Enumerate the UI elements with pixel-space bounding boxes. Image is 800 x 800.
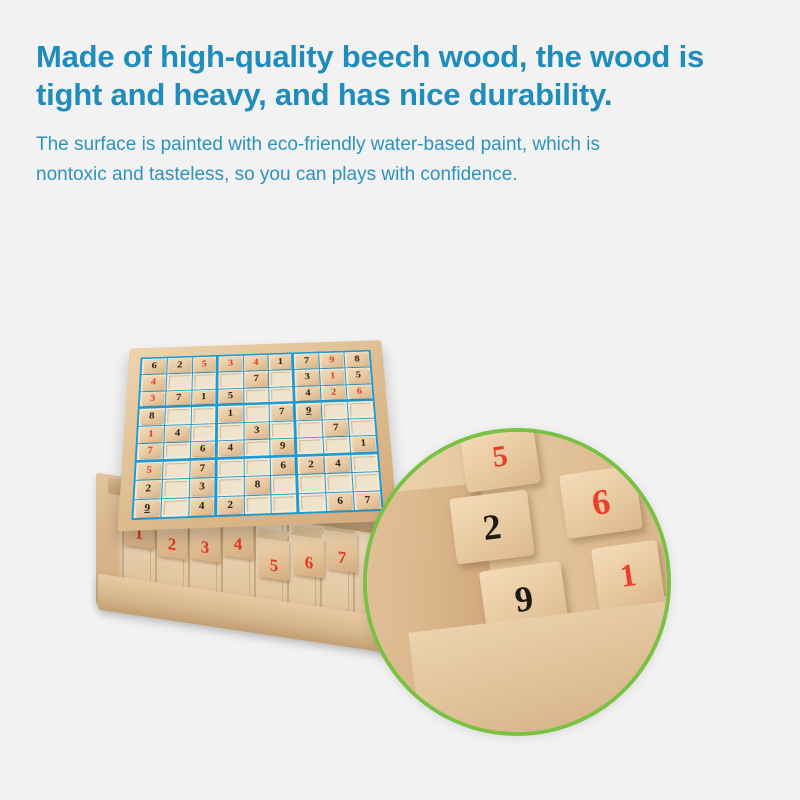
sudoku-cell[interactable] [271,475,298,494]
sudoku-cell[interactable]: 7 [270,404,296,421]
sudoku-cell[interactable]: 3 [218,356,243,372]
sudoku-cell[interactable]: 2 [321,385,347,402]
closeup-tile-label: 6 [589,480,613,524]
sudoku-board[interactable]: 6253417984731537154268179143776491576242… [118,340,398,531]
sudoku-cell[interactable]: 4 [141,375,167,392]
sudoku-tile[interactable]: 9 [297,404,320,419]
sudoku-cell[interactable]: 7 [166,390,192,407]
sudoku-cell[interactable]: 3 [140,391,166,408]
sudoku-tile[interactable]: 7 [324,420,347,435]
sudoku-cell[interactable] [218,423,244,441]
sudoku-cell[interactable] [191,424,217,442]
sudoku-tile[interactable]: 1 [322,370,344,384]
sudoku-cell[interactable] [297,438,323,456]
sudoku-tile[interactable]: 2 [218,497,241,514]
cell-recess [328,475,351,490]
cell-recess [193,426,213,440]
sudoku-cell[interactable]: 7 [190,460,216,478]
sudoku-tile[interactable]: 6 [192,443,213,457]
sudoku-cell[interactable] [299,493,326,512]
sudoku-tile[interactable]: 1 [139,427,162,442]
sudoku-tile[interactable]: 5 [347,369,370,383]
closeup-tile: 2 [449,489,534,564]
sudoku-tile[interactable]: 5 [194,358,214,372]
sudoku-cell[interactable]: 3 [190,478,217,497]
sudoku-cell[interactable]: 7 [244,371,269,388]
sudoku-tile[interactable]: 7 [191,461,212,477]
cell-recess [246,497,269,512]
sudoku-tile[interactable]: 4 [191,498,213,515]
sudoku-cell[interactable] [217,459,243,477]
sudoku-cell[interactable]: 5 [218,389,243,406]
sudoku-cell[interactable] [166,374,191,391]
sudoku-tile[interactable]: 6 [328,493,352,509]
closeup-tile-label: 5 [490,439,510,475]
sudoku-cell[interactable] [192,373,217,390]
sudoku-cell[interactable]: 5 [346,368,372,385]
cell-recess [220,374,241,387]
sudoku-cell[interactable]: 1 [320,369,346,386]
sudoku-cell[interactable] [244,440,270,458]
cell-recess [272,423,292,437]
drawer-tile-label: 5 [270,555,279,576]
cell-recess [271,372,291,385]
sudoku-cell[interactable]: 6 [190,442,216,460]
drawer-tile-label: 3 [201,537,210,558]
sudoku-cell[interactable]: 3 [244,422,270,440]
sudoku-tile[interactable]: 9 [321,353,343,367]
sudoku-cell[interactable] [244,495,271,514]
sudoku-cell[interactable]: 6 [347,384,373,401]
sudoku-cell[interactable] [272,494,299,513]
cell-recess [168,375,190,388]
cell-recess [246,441,268,454]
sudoku-tile[interactable]: 7 [296,354,318,368]
sudoku-cell[interactable]: 2 [167,357,192,373]
closeup-tile: 6 [559,465,643,539]
sudoku-cell[interactable]: 4 [189,497,216,516]
sudoku-cell[interactable] [270,421,296,439]
tile-top-bevel [256,528,290,542]
sudoku-cell[interactable]: 3 [295,369,320,386]
cell-recess [246,389,267,401]
sudoku-tile[interactable]: 8 [246,477,269,493]
sudoku-cell[interactable]: 1 [269,354,294,370]
cell-recess [165,462,188,477]
sudoku-cell[interactable]: 5 [136,461,163,480]
cell-recess [163,500,186,515]
headline: Made of high-quality beech wood, the woo… [36,38,716,114]
product-feature-panel: Made of high-quality beech wood, the woo… [0,0,800,800]
cell-recess [219,460,241,475]
sudoku-tile[interactable]: 4 [326,456,350,472]
cell-recess [167,409,189,423]
cell-recess [166,444,188,457]
sudoku-cell[interactable]: 9 [133,499,161,518]
sudoku-cell[interactable] [348,401,374,418]
sudoku-cell[interactable]: 1 [192,390,217,407]
drawer-tile[interactable]: 5 [259,537,289,581]
sudoku-tile[interactable]: 1 [219,407,241,422]
sudoku-tile[interactable]: 8 [346,353,368,367]
sudoku-cell[interactable]: 7 [137,443,164,461]
sudoku-tile[interactable]: 4 [219,442,242,456]
sudoku-tile[interactable]: 1 [270,355,290,369]
drawer-tile-label: 4 [234,534,243,555]
sudoku-cell[interactable]: 1 [218,406,243,423]
cell-recess [246,406,268,420]
sudoku-tile[interactable]: 7 [271,405,292,420]
detail-closeup-circle: 5 2 6 9 1 [363,428,671,736]
sudoku-tile[interactable]: 4 [166,426,189,441]
sudoku-tile[interactable]: 2 [299,457,322,473]
sudoku-grid[interactable]: 6253417984731537154268179143776491576242… [131,350,383,520]
sudoku-cell[interactable]: 4 [325,455,352,473]
sudoku-cell[interactable] [269,370,294,387]
cell-recess [301,495,324,510]
sudoku-cell[interactable]: 6 [326,492,354,511]
cell-recess [300,476,323,491]
sudoku-cell[interactable] [218,372,243,389]
sudoku-cell[interactable]: 4 [217,441,243,459]
sudoku-cell[interactable] [217,477,243,496]
cell-recess [326,439,349,452]
product-photo: 1 2 3 4 5 6 7 62534179847315371542681791… [0,300,800,800]
sudoku-cell[interactable]: 1 [138,426,164,444]
drawer-tile-label: 7 [338,547,347,568]
sudoku-cell[interactable]: 2 [298,456,325,474]
sudoku-tile[interactable]: 4 [142,376,164,390]
sudoku-cell[interactable] [298,474,325,493]
sudoku-cell[interactable]: 4 [164,425,190,443]
cell-recess [194,375,213,388]
sudoku-cell[interactable] [297,420,323,438]
sudoku-tile[interactable]: 6 [143,359,165,373]
sudoku-tile[interactable]: 3 [220,357,242,371]
cell-recess [298,422,320,436]
sudoku-cell[interactable] [326,473,353,492]
cell-recess [219,425,241,439]
drawer-tile[interactable]: 7 [327,529,357,573]
sudoku-tile[interactable]: 6 [272,458,294,474]
sudoku-tile[interactable]: 1 [193,391,214,404]
cell-recess [193,408,213,422]
sudoku-cell[interactable]: 8 [139,408,165,425]
drawer-tile-label: 2 [168,534,177,555]
sudoku-tile[interactable]: 3 [191,479,213,495]
sudoku-cell[interactable] [244,458,270,476]
sudoku-cell[interactable]: 4 [244,355,269,371]
sudoku-tile[interactable]: 2 [136,481,160,497]
closeup-tile: 5 [459,428,541,493]
sudoku-cell[interactable]: 7 [323,419,349,437]
closeup-tile-label: 2 [481,505,504,549]
sudoku-cell[interactable]: 8 [244,476,270,495]
sudoku-cell[interactable] [191,407,217,424]
sudoku-cell[interactable] [163,461,190,479]
sudoku-cell[interactable]: 6 [142,358,167,374]
sudoku-tile[interactable]: 3 [141,392,164,405]
drawer-tile[interactable]: 6 [294,534,324,578]
sudoku-tile[interactable]: 5 [219,390,241,403]
closeup-tile-label: 1 [618,556,639,595]
sudoku-tile[interactable]: 2 [169,359,191,373]
cell-recess [246,460,268,475]
sudoku-cell[interactable] [161,498,188,517]
sudoku-cell[interactable] [324,437,351,455]
cell-recess [273,477,294,492]
subcopy: The surface is painted with eco-friendly… [36,130,656,190]
copy-block: Made of high-quality beech wood, the woo… [36,38,716,190]
sudoku-cell[interactable]: 7 [294,353,319,369]
sudoku-tile[interactable]: 5 [137,463,161,479]
sudoku-tile[interactable]: 4 [245,356,267,370]
drawer-tile-label: 6 [305,552,314,573]
sudoku-tile[interactable]: 3 [246,423,269,438]
sudoku-cell[interactable]: 8 [344,352,370,368]
sudoku-cell[interactable]: 9 [319,352,344,368]
sudoku-tile[interactable]: 7 [245,372,267,386]
sudoku-cell[interactable] [164,442,190,460]
sudoku-cell[interactable] [244,388,269,405]
closeup-tile: 1 [591,540,665,611]
closeup-tile-label: 9 [512,577,536,621]
sudoku-tile[interactable]: 9 [135,500,159,517]
cell-recess [350,403,372,417]
sudoku-tile[interactable]: 4 [297,387,319,400]
sudoku-cell[interactable]: 6 [271,457,297,475]
sudoku-tile[interactable]: 8 [140,409,163,424]
cell-recess [164,481,187,496]
cell-recess [274,496,295,511]
cell-recess [324,404,346,418]
cell-recess [271,389,291,401]
sudoku-cell[interactable] [270,387,295,404]
sudoku-cell[interactable] [322,402,348,419]
sudoku-cell[interactable]: 9 [271,439,297,457]
sudoku-tile[interactable]: 3 [296,371,318,385]
sudoku-cell[interactable]: 2 [135,480,162,499]
sudoku-cell[interactable]: 4 [295,386,321,403]
sudoku-cell[interactable] [162,479,189,498]
sudoku-cell[interactable] [244,405,269,422]
sudoku-tile[interactable]: 9 [272,440,293,454]
sudoku-tile[interactable]: 7 [138,445,161,459]
cell-recess [299,440,321,453]
sudoku-tile[interactable]: 6 [348,385,371,398]
sudoku-cell[interactable]: 2 [217,496,244,515]
sudoku-tile[interactable]: 2 [323,386,346,399]
sudoku-cell[interactable] [165,407,191,424]
sudoku-tile[interactable]: 7 [167,391,189,404]
sudoku-cell[interactable]: 5 [193,357,218,373]
sudoku-cell[interactable]: 9 [296,403,322,420]
cell-recess [219,479,241,494]
